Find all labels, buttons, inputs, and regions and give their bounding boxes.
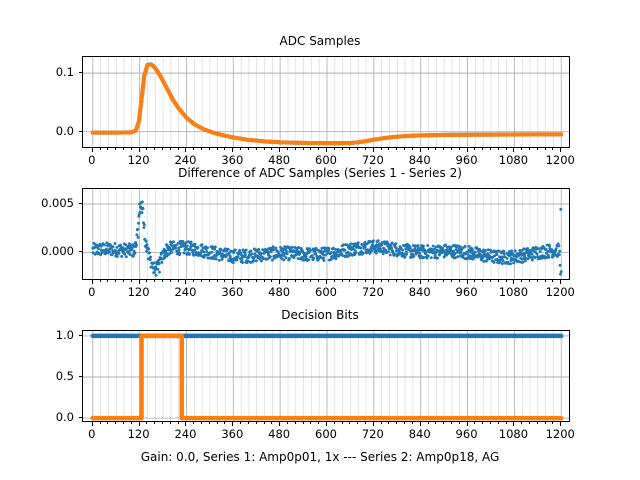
xtick-mark-major [560,422,561,426]
xtick-mark-minor [162,422,163,424]
subplot-3-xtick-label: 120 [128,427,150,441]
subplot-3-title: Decision Bits [0,308,640,322]
xtick-mark-minor [365,422,366,424]
xtick-mark-minor [349,422,350,424]
subplot-3: Decision Bits0.00.51.0012024036048060072… [0,0,640,480]
xtick-mark-minor [209,422,210,424]
ytick-mark [79,376,83,377]
xtick-mark-minor [545,422,546,424]
xtick-mark-minor [474,422,475,424]
xtick-mark-minor [240,422,241,424]
xtick-mark-major [467,422,468,426]
xtick-mark-minor [404,422,405,424]
xtick-mark-minor [170,422,171,424]
subplot-3-xtick-label: 1200 [546,427,575,441]
xtick-mark-minor [287,422,288,424]
xtick-mark-minor [318,422,319,424]
xtick-mark-major [185,422,186,426]
subplot-3-xtick-label: 480 [268,427,290,441]
subplot-3-xtick-label: 840 [409,427,431,441]
xtick-mark-minor [217,422,218,424]
xtick-mark-major [513,422,514,426]
subplot-3-xtick-label: 960 [456,427,478,441]
xtick-mark-minor [490,422,491,424]
xtick-mark-minor [295,422,296,424]
subplot-3-xtick-label: 0 [88,427,95,441]
xtick-mark-minor [482,422,483,424]
gridlines [83,331,570,422]
xtick-mark-minor [435,422,436,424]
xtick-mark-minor [388,422,389,424]
figure-caption: Gain: 0.0, Series 1: Amp0p01, 1x --- Ser… [0,450,640,464]
xtick-mark-minor [537,422,538,424]
xtick-mark-minor [146,422,147,424]
xtick-mark-minor [178,422,179,424]
subplot-3-ytick-label: 1.0 [0,328,74,342]
subplot-3-ytick-label: 0.0 [0,410,74,424]
xtick-mark-minor [521,422,522,424]
xtick-mark-minor [428,422,429,424]
xtick-mark-minor [412,422,413,424]
xtick-mark-minor [381,422,382,424]
xtick-mark-minor [342,422,343,424]
subplot-3-xtick-label: 720 [362,427,384,441]
subplot-3-axes [82,330,570,422]
xtick-mark-minor [193,422,194,424]
xtick-mark-minor [264,422,265,424]
xtick-mark-minor [224,422,225,424]
xtick-mark-minor [201,422,202,424]
xtick-mark-minor [506,422,507,424]
xtick-mark-minor [529,422,530,424]
xtick-mark-minor [443,422,444,424]
xtick-mark-minor [100,422,101,424]
xtick-mark-minor [451,422,452,424]
xtick-mark-major [92,422,93,426]
xtick-mark-major [139,422,140,426]
subplot-3-plot-area [83,331,570,422]
subplot-3-xtick-label: 1080 [499,427,528,441]
xtick-mark-major [373,422,374,426]
xtick-mark-minor [154,422,155,424]
xtick-mark-minor [310,422,311,424]
xtick-mark-minor [459,422,460,424]
xtick-mark-minor [396,422,397,424]
xtick-mark-minor [115,422,116,424]
subplot-3-ytick-label: 0.5 [0,369,74,383]
xtick-mark-major [326,422,327,426]
xtick-mark-minor [123,422,124,424]
xtick-mark-minor [552,422,553,424]
subplot-3-xtick-label: 600 [315,427,337,441]
xtick-mark-minor [131,422,132,424]
subplot-3-xtick-label: 240 [174,427,196,441]
xtick-mark-major [232,422,233,426]
subplot-3-xtick-label: 360 [221,427,243,441]
xtick-mark-minor [107,422,108,424]
xtick-mark-major [420,422,421,426]
ytick-mark [79,335,83,336]
xtick-mark-minor [248,422,249,424]
xtick-mark-major [279,422,280,426]
xtick-mark-minor [357,422,358,424]
xtick-mark-minor [271,422,272,424]
xtick-mark-minor [334,422,335,424]
xtick-mark-minor [303,422,304,424]
xtick-mark-minor [498,422,499,424]
figure-canvas: ADC Samples0.00.101202403604806007208409… [0,0,640,480]
ytick-mark [79,417,83,418]
xtick-mark-minor [256,422,257,424]
